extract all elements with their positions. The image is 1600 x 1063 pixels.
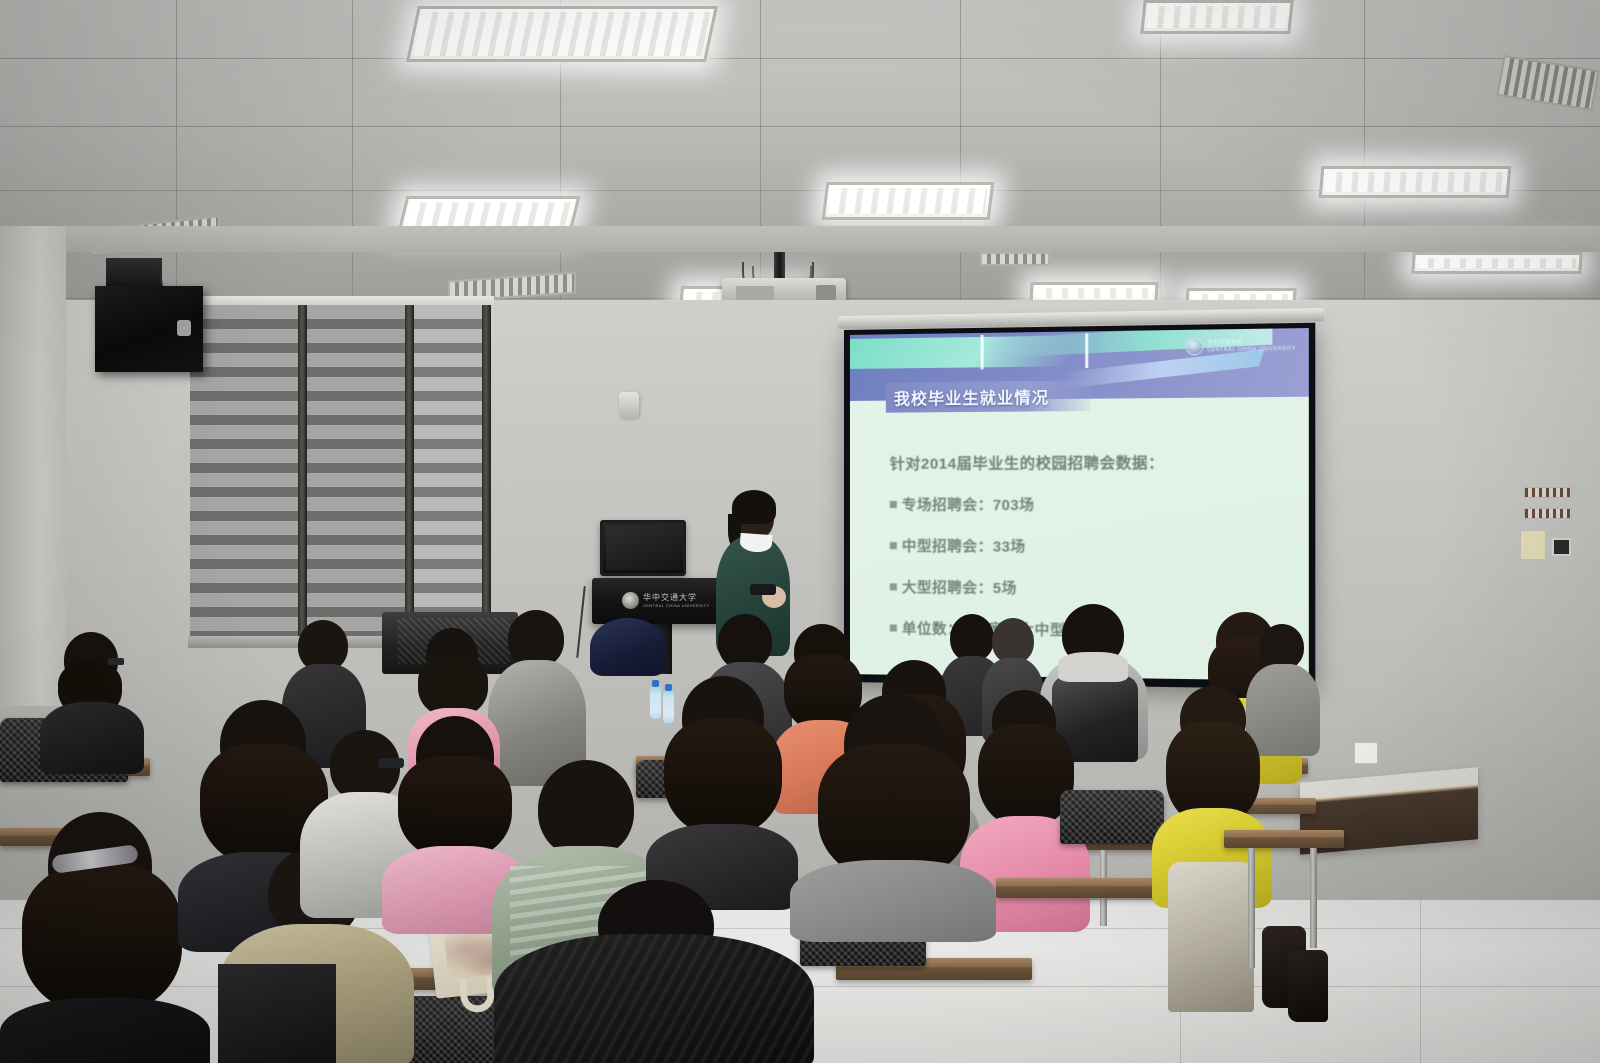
university-logo: 华中交通大学 CENTRAL CHINA UNIVERSITY <box>1185 337 1296 356</box>
university-logo-subname: CENTRAL CHINA UNIVERSITY <box>1207 345 1296 353</box>
wall-power-socket[interactable] <box>1520 530 1546 560</box>
podium-logo-mark-icon <box>622 592 639 609</box>
ceiling-light <box>1140 0 1294 34</box>
ceiling-air-vent <box>980 252 1050 266</box>
bullet-square-icon <box>890 624 897 631</box>
wall-power-socket[interactable] <box>1354 742 1378 764</box>
wall-upper-strip <box>0 226 1600 252</box>
legs <box>1168 862 1254 1012</box>
eyeglasses-icon <box>108 658 124 665</box>
wall-terminal-block <box>1524 508 1572 519</box>
slide-bullet-label: 专场招聘会：703场 <box>902 494 1035 515</box>
desk <box>1224 830 1344 848</box>
slide-lead-text: 针对2014届毕业生的校园招聘会数据： <box>890 451 1290 474</box>
hair <box>22 864 182 1014</box>
boot <box>1288 950 1328 1022</box>
wall-sensor <box>619 392 639 418</box>
podium-logo-subname: CENTRAL CHINA UNIVERSITY <box>643 603 710 608</box>
slide-tick-mark <box>981 335 984 369</box>
window-blind[interactable] <box>307 305 405 645</box>
ceiling-light <box>1411 252 1583 274</box>
slide-bullet-label: 中型招聘会：33场 <box>902 535 1026 557</box>
bullet-square-icon <box>890 542 897 549</box>
presenter-chair <box>590 618 666 676</box>
wall-speaker <box>95 286 203 372</box>
lecture-hall-photo: 华中交通大学 CENTRAL CHINA UNIVERSITY 我校毕业生就业情… <box>0 0 1600 1063</box>
desk-leg <box>1248 848 1255 968</box>
slide-bullet-label: 大型招聘会：5场 <box>902 576 1017 598</box>
torso <box>40 702 144 774</box>
ceiling-light <box>406 6 718 62</box>
window-blind[interactable] <box>414 305 490 645</box>
audience-member <box>1168 862 1254 1022</box>
window-mullion <box>482 305 491 645</box>
window-blind[interactable] <box>190 305 298 645</box>
slide-bullet-item: 大型招聘会：5场 <box>890 576 1290 600</box>
slide-title: 我校毕业生就业情况 <box>886 380 1091 412</box>
monitor-screen <box>606 526 680 570</box>
wall-terminal-block <box>1524 487 1572 498</box>
torso <box>0 998 210 1063</box>
head <box>538 760 634 858</box>
slide-bullet-item: 中型招聘会：33场 <box>890 535 1290 558</box>
chair[interactable] <box>1060 790 1164 844</box>
audience-member <box>40 632 144 752</box>
torso <box>790 860 996 942</box>
slide-tick-mark <box>1085 333 1088 368</box>
presenter-remote[interactable] <box>750 584 776 595</box>
window-blinds-group <box>190 305 490 645</box>
bullet-square-icon <box>890 583 897 590</box>
window-mullion <box>298 305 307 645</box>
wall-network-port[interactable] <box>1552 538 1571 556</box>
podium-logo-name: 华中交通大学 <box>643 593 710 603</box>
hair <box>664 718 782 836</box>
desk <box>996 878 1164 898</box>
ceiling-light <box>822 182 995 220</box>
desk-leg <box>1310 848 1317 948</box>
audience-member <box>790 694 996 924</box>
speaker-bracket <box>106 258 162 288</box>
ceiling-air-vent <box>1496 55 1599 111</box>
ceiling-light <box>1319 166 1512 198</box>
podium-logo: 华中交通大学 CENTRAL CHINA UNIVERSITY <box>622 592 710 609</box>
slide-bullet-item: 专场招聘会：703场 <box>890 494 1290 516</box>
jacket <box>218 964 336 1063</box>
window-mullion <box>405 305 414 645</box>
audience-member <box>646 676 798 896</box>
hood <box>1058 652 1128 682</box>
podium-monitor <box>600 520 686 576</box>
audience-member <box>494 880 814 1063</box>
university-logo-mark-icon <box>1185 338 1203 356</box>
torso-dark-coat <box>494 934 814 1063</box>
bullet-square-icon <box>890 501 897 508</box>
speaker-badge-icon <box>177 320 191 336</box>
slide-accent-swoosh <box>1060 349 1265 389</box>
